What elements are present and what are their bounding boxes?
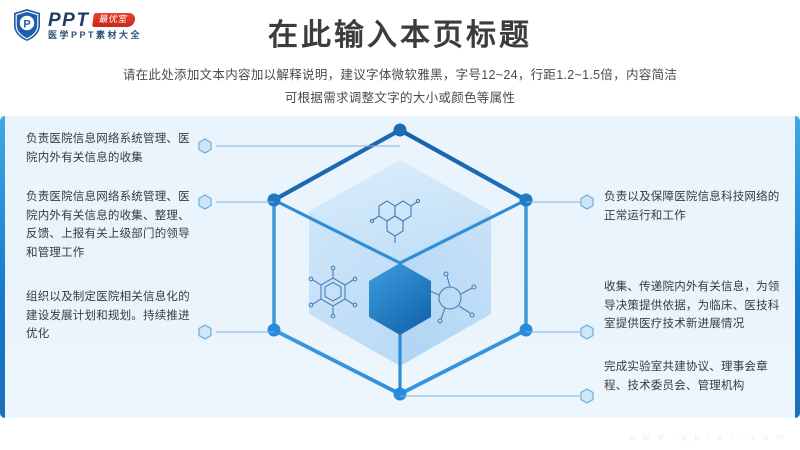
info-item-right-2: 收集、传递院内外有关信息，为领导决策提供依据，为临床、医技科室提供医疗技术新进展… [604,278,784,334]
panel-accent-stripe-right [795,116,800,418]
vertex-node-top [394,124,407,137]
info-item-left-3: 组织以及制定医院相关信息化的建设发展计划和规划。持续推进优化 [26,288,198,344]
panel-accent-stripe-left [0,116,5,418]
vertex-node-top-left [268,194,281,207]
info-item-right-1: 负责以及保障医院信息科技网络的正常运行和工作 [604,188,784,225]
site-watermark: w w w . p p t e r . c o m [629,432,786,442]
vertex-node-bottom-right [520,324,533,337]
info-item-left-1: 负责医院信息网络系统管理、医院内外有关信息的收集 [26,130,198,167]
hexagon-cube-diagram [245,118,555,406]
info-item-left-2: 负责医院信息网络系统管理、医院内外有关信息的收集、整理、反馈、上报有关上级部门的… [26,188,198,263]
vertex-node-bottom-left [268,324,281,337]
vertex-node-top-right [520,194,533,207]
vertex-node-bottom [394,388,407,401]
page-subtitle: 请在此处添加文本内容加以解释说明，建议字体微软雅黑，字号12~24，行距1.2~… [0,64,800,110]
subtitle-line-2: 可根据需求调整文字的大小或颜色等属性 [0,87,800,110]
page-title: 在此输入本页标题 [0,18,800,54]
subtitle-line-1: 请在此处添加文本内容加以解释说明，建议字体微软雅黑，字号12~24，行距1.2~… [0,64,800,87]
info-item-right-3: 完成实验室共建协议、理事会章程、技术委员会、管理机构 [604,358,784,395]
